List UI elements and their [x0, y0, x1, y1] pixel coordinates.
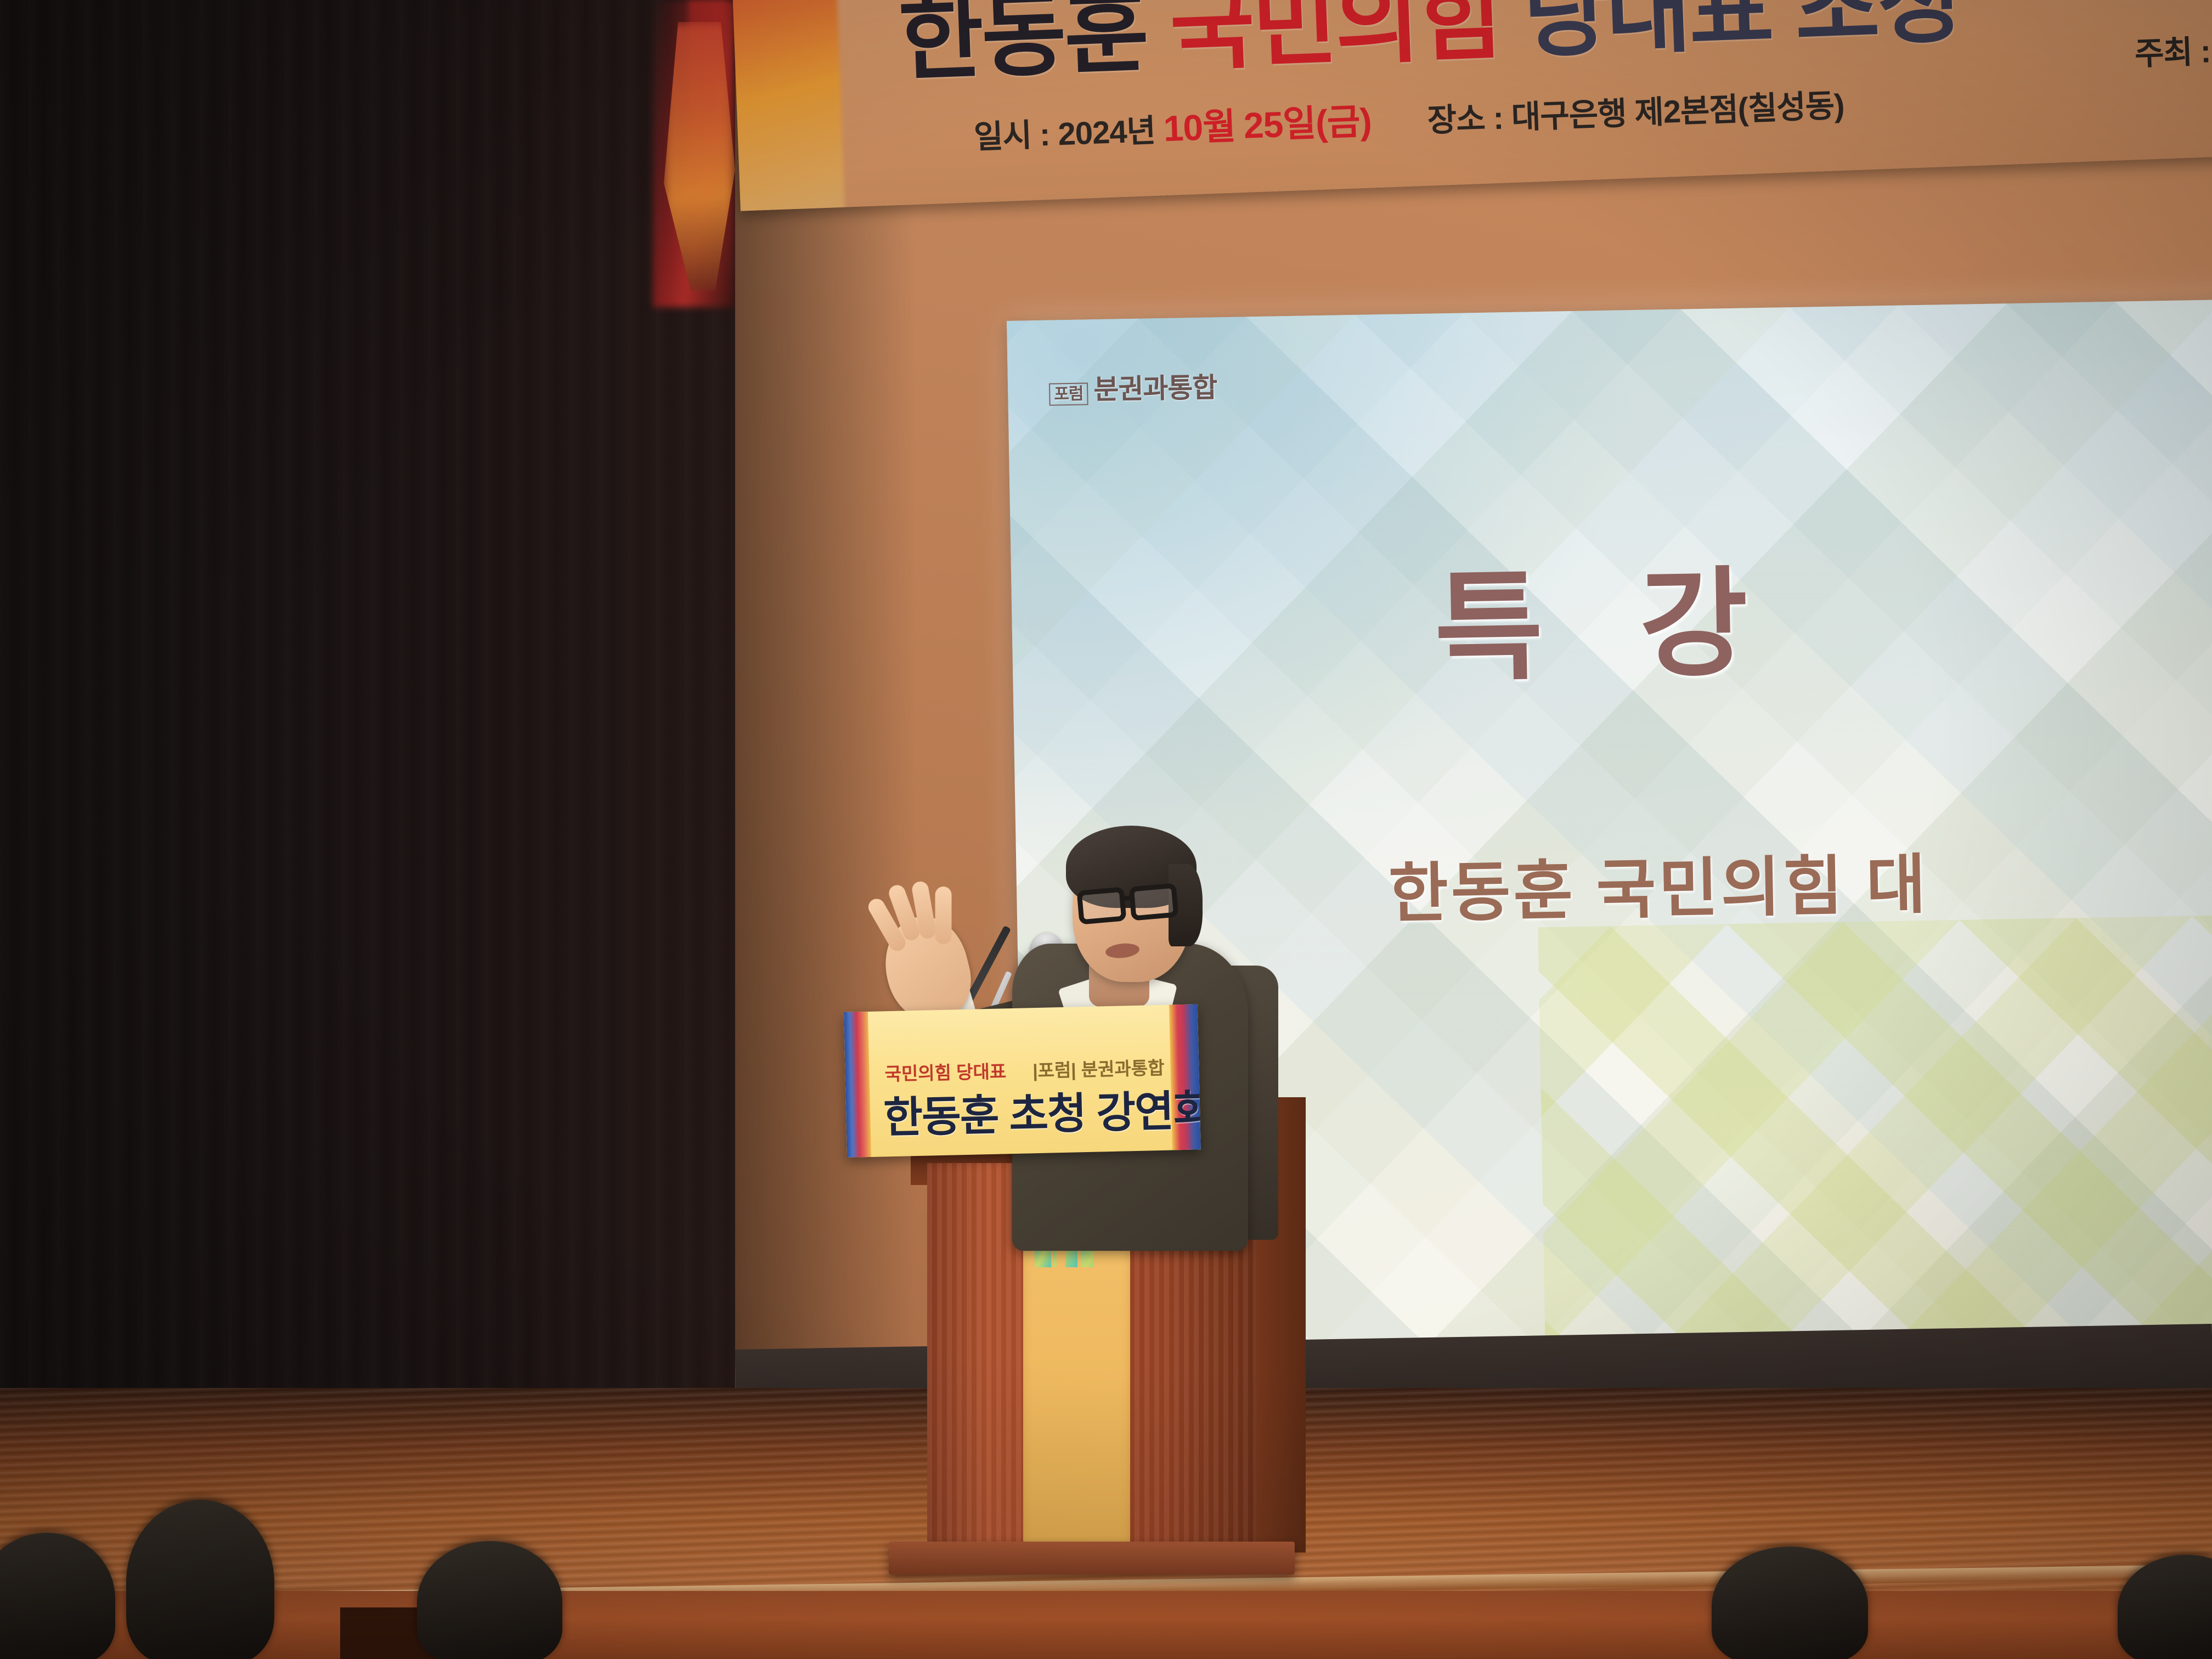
audience-head [1712, 1547, 1868, 1659]
banner-date-year: 2024년 [1057, 113, 1156, 152]
banner-date-label: 일시 : [973, 117, 1050, 155]
screen-green-diamonds [1538, 913, 2212, 1383]
audience-head [417, 1541, 562, 1659]
banner-headline-suffix: 초청 [1793, 0, 1962, 59]
banner-place-label: 장소 : [1427, 100, 1504, 139]
podium-base [889, 1542, 1295, 1575]
screen-forum-logo: 포럼분권과통합 [1049, 365, 1217, 408]
banner-place-value: 대구은행 제2본점(칠성동) [1511, 88, 1845, 136]
audience-head [126, 1500, 274, 1659]
photo-scene: 한동훈 국민의힘 당대표 초청 일시 : 2024년 10월 25일(금) 장소… [0, 0, 2212, 1659]
podium-sign-title: 한동훈 초청 강연회 [883, 1076, 1201, 1145]
banner-headline: 한동훈 국민의힘 당대표 초청 [898, 0, 1962, 86]
glasses-right-lens-icon [1128, 883, 1178, 921]
screen-subtitle: 한동훈 국민의힘 대 [1388, 832, 1929, 935]
banner-headline-role: 당대표 [1522, 0, 1773, 69]
banner-date-month: 10월 [1163, 106, 1236, 149]
glasses-left-lens-icon [1076, 887, 1126, 924]
screen-forum-name: 분권과통합 [1093, 372, 1217, 405]
banner-flame-decoration [730, 0, 845, 211]
podium-sign-stripe-left [844, 1012, 871, 1158]
banner-date-line: 일시 : 2024년 10월 25일(금) 장소 : 대구은행 제2본점(칠성동… [973, 75, 1844, 159]
screen-title: 특 강 [1433, 527, 1781, 704]
banner-headline-name: 한동훈 [897, 0, 1148, 92]
banner-host-label: 주최 : [2134, 33, 2211, 72]
screen-forum-tag: 포럼 [1049, 382, 1088, 405]
banner-host-line: 주최 : |포 [2134, 24, 2212, 74]
banner-headline-party: 국민의힘 [1168, 0, 1502, 82]
stage-front-face [0, 1591, 2212, 1659]
podium-sign: 국민의힘 당대표 |포럼| 분권과통합 한동훈 초청 강연회 [844, 1004, 1201, 1158]
banner-date-day: 25일(금) [1243, 100, 1372, 145]
